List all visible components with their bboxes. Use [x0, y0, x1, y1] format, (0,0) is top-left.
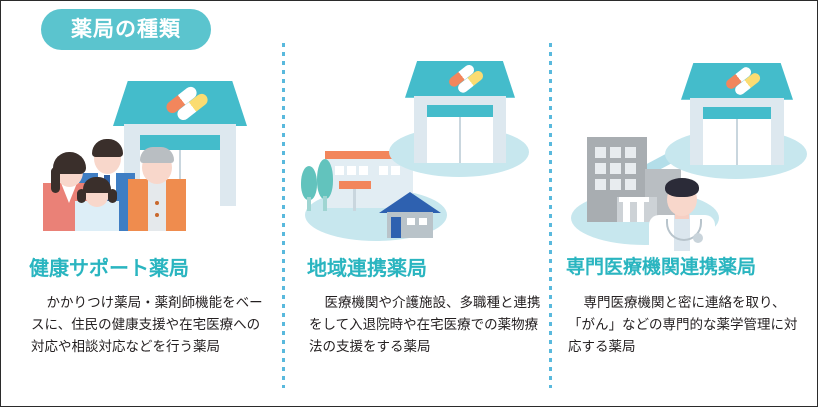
tree-left-trunk [307, 197, 311, 211]
house-window [407, 218, 415, 225]
hospital-window [610, 147, 621, 158]
pharmacy-awning [703, 107, 770, 119]
pharmacy-door-divider [459, 117, 461, 163]
hospital-portico [619, 197, 649, 202]
hospital-window [595, 179, 606, 190]
illustration-pharmacy-linked-to-clinic [293, 49, 555, 259]
clinic-window [335, 166, 344, 175]
mother-hair-side [51, 167, 60, 193]
stethoscope-chestpiece [693, 233, 703, 243]
clinic-sign-pole [353, 189, 356, 211]
child-pigtail-right [108, 189, 117, 203]
column-health-support-pharmacy: 健康サポート薬局 かかりつけ薬局・薬剤師機能をベースに、住民の健康支援や在宅医療… [15, 49, 277, 394]
column-title-specialized-medical: 専門医療機関連携薬局 [566, 258, 818, 279]
column-body-health-support: かかりつけ薬局・薬剤師機能をベースに、住民の健康支援や在宅医療への対応や相談対応… [31, 292, 265, 358]
doctor-hair [665, 178, 699, 197]
pharmacy-building [681, 63, 793, 165]
hospital-window [595, 147, 606, 158]
grandfather-shirt [148, 179, 166, 231]
clinic-window [379, 166, 388, 175]
pharmacy-door-divider [736, 119, 738, 165]
clinic-window [347, 166, 356, 175]
column-specialized-medical-cooperation-pharmacy: 専門医療機関連携薬局 専門医療機関と密に連絡を取り、「がん」などの専門的な薬学管… [557, 49, 818, 394]
clinic-window [391, 166, 400, 175]
pharmacy-awning [427, 105, 493, 117]
column-separator-1 [282, 43, 285, 388]
hospital-window [595, 163, 606, 174]
pharmacy-building [405, 61, 515, 163]
column-community-cooperation-pharmacy: 地域連携薬局 医療機関や介護施設、多職種と連携をして入退院時や在宅医療での薬物療… [293, 49, 555, 394]
clinic-sign [339, 181, 371, 189]
person-doctor [649, 177, 715, 251]
column-body-specialized-medical: 専門医療機関と密に連絡を取り、「がん」などの専門的な薬学管理に対応する薬局 [568, 292, 802, 358]
page-title-badge: 薬局の種類 [41, 9, 211, 50]
illustration-pharmacy-with-family [15, 49, 277, 259]
grandfather-button-1 [155, 201, 159, 205]
column-title-community-cooperation: 地域連携薬局 [307, 258, 565, 280]
illustration-pharmacy-linked-to-hospital [557, 49, 818, 259]
tree-left [301, 166, 317, 200]
house-door [391, 217, 401, 238]
grandfather-hair [140, 147, 174, 163]
tree-right-trunk [323, 196, 327, 211]
column-body-community-cooperation: 医療機関や介護施設、多職種と連携をして入退院時や在宅医療での薬物療法の支援をする… [309, 292, 543, 358]
person-grandfather [128, 145, 186, 231]
tree-right [317, 159, 333, 199]
hospital-column [623, 201, 630, 222]
hospital-window [625, 163, 636, 174]
house-window [419, 218, 427, 225]
child-pigtail-left [77, 189, 86, 203]
column-title-health-support: 健康サポート薬局 [29, 258, 287, 280]
clinic-window [359, 166, 368, 175]
hospital-window [610, 163, 621, 174]
page-title: 薬局の種類 [71, 19, 181, 40]
infographic-page: 薬局の種類 [0, 0, 818, 407]
hospital-window [610, 179, 621, 190]
hospital-window [625, 147, 636, 158]
hospital-window [625, 179, 636, 190]
grandfather-button-2 [155, 213, 159, 217]
hospital-column [637, 201, 644, 222]
father-hair [92, 139, 123, 157]
child-hair [83, 177, 111, 193]
person-child [75, 175, 119, 231]
